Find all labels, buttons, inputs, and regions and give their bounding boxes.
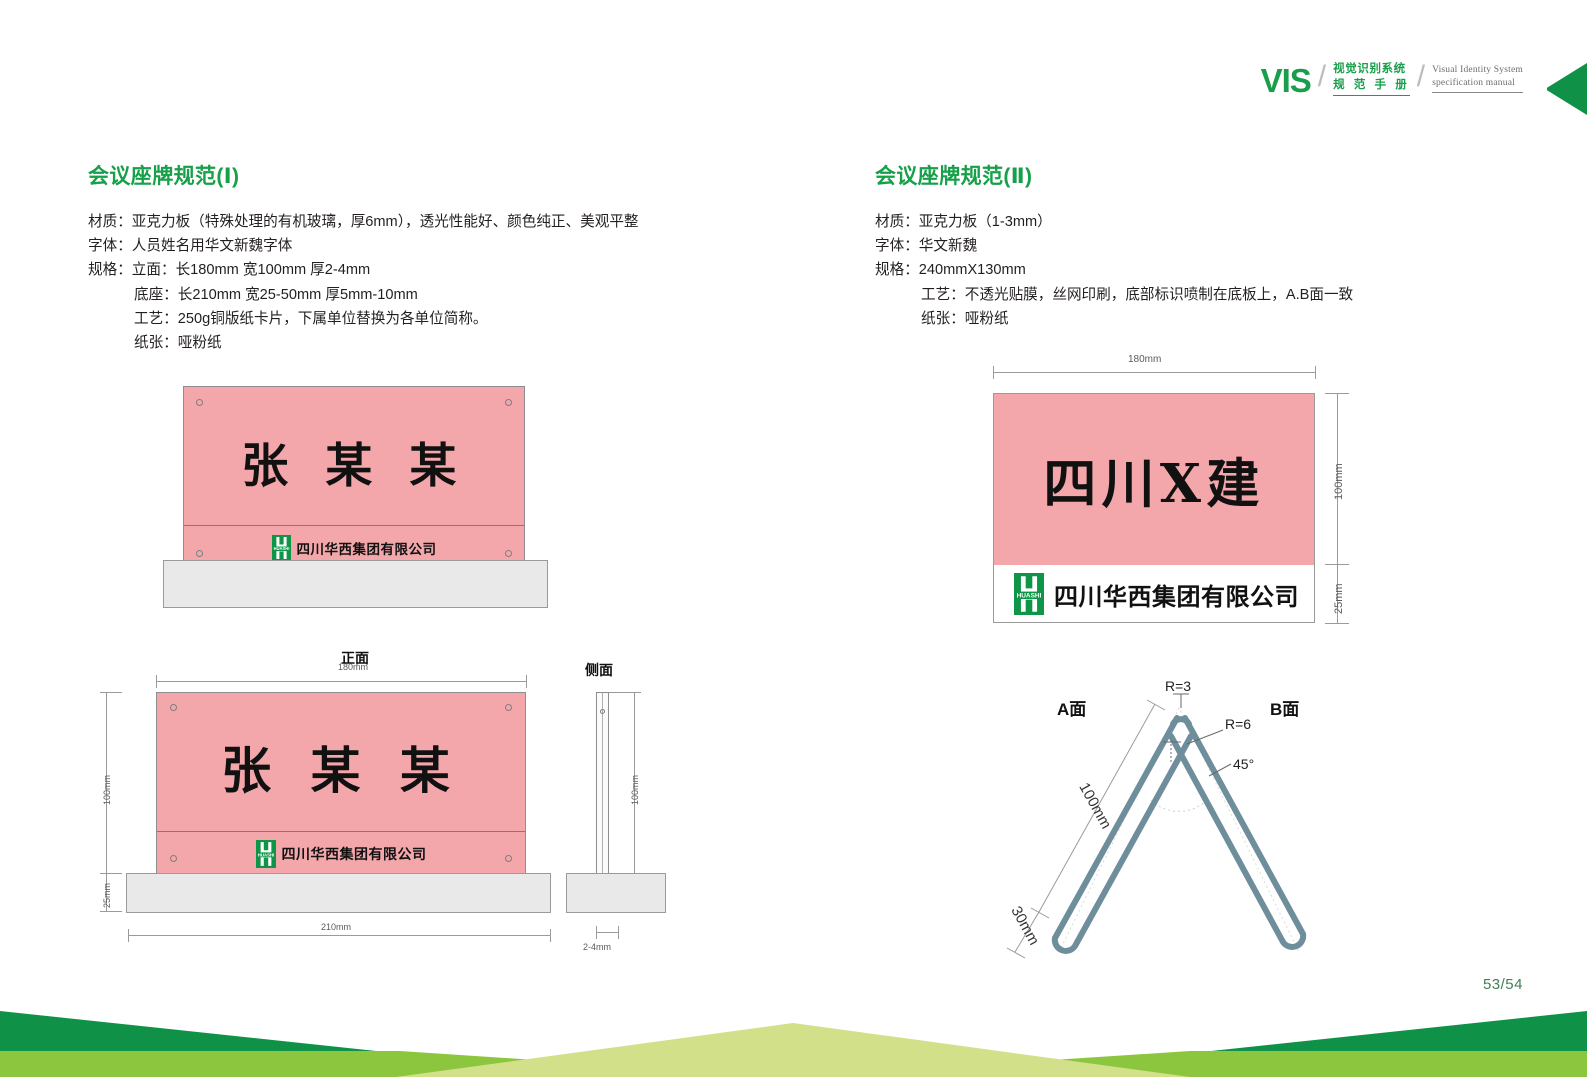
fv-plate-company-area: HUASHI 四川华西集团有限公司	[157, 833, 525, 875]
right-width-tick-left	[993, 366, 994, 379]
front-height-tick-mid	[100, 873, 122, 874]
right-height-tick-bottom	[1325, 623, 1349, 624]
side-thickness-tick-left	[596, 926, 597, 939]
header-chinese-subtitle: 视觉识别系统 规 范 手 册	[1333, 58, 1410, 96]
fold-diagram-svg: 100mm 30mm	[995, 680, 1355, 960]
side-height-dim-label: 100mm	[630, 775, 640, 805]
fv-corner-hole-tl	[170, 704, 177, 711]
right-plate-title: 四川X建	[1043, 442, 1264, 518]
left-spec-line-4: 工艺：250g铜版纸卡片，下属单位替换为各单位简称。	[88, 307, 639, 331]
side-thickness-dim-label: 2-4mm	[583, 942, 611, 952]
front-width-tick-left	[156, 675, 157, 688]
side-thickness-tick-right	[618, 926, 619, 939]
huashi-logo-icon: HUASHI	[272, 535, 291, 561]
base-width-dim-label: 210mm	[321, 922, 351, 932]
front-height-tick-top	[100, 692, 122, 693]
right-strip-dim-label: 25mm	[1333, 583, 1345, 614]
left-spec-line-1: 字体：人员姓名用华文新魏字体	[88, 234, 639, 258]
right-nameplate: 四川X建 HUASHI 四川华西集团有限公司	[993, 393, 1315, 623]
fv-plate-name-area: 张 某 某	[157, 717, 525, 817]
right-company-name: 四川华西集团有限公司	[1054, 577, 1299, 612]
right-width-dim-line	[993, 372, 1315, 373]
nameplate-front-illustration: 张 某 某 HUASHI 四川华西集团有限公司	[183, 386, 525, 568]
front-height-dim-label: 100mm	[102, 775, 112, 805]
svg-text:HUASHI: HUASHI	[273, 546, 289, 551]
side-height-tick-top	[609, 692, 641, 693]
right-spec-line-2: 规格：240mmX130mm	[875, 258, 1353, 282]
left-spec-line-0: 材质：亚克力板（特殊处理的有机玻璃，厚6mm），透光性能好、颜色纯正、美观平整	[88, 210, 639, 234]
header-cn-line-1: 视觉识别系统	[1333, 62, 1410, 78]
footer-wave-light	[396, 1023, 1190, 1077]
right-width-tick-right	[1315, 366, 1316, 379]
fv-huashi-logo-icon: HUASHI	[256, 840, 276, 868]
company-name: 四川华西集团有限公司	[297, 538, 437, 558]
right-spec-line-1: 字体：华文新魏	[875, 234, 1353, 258]
right-huashi-logo-icon: HUASHI	[1014, 573, 1044, 615]
fv-corner-hole-tr	[505, 704, 512, 711]
side-view-base	[566, 873, 666, 913]
fv-plate-divider-line	[157, 831, 525, 832]
vis-logo-header: VIS / 视觉识别系统 规 范 手 册 / Visual Identity S…	[1261, 58, 1523, 97]
svg-text:30mm: 30mm	[1007, 903, 1042, 948]
header-cn-line-2: 规 范 手 册	[1333, 78, 1410, 97]
right-height-dim-label: 100mm	[1333, 463, 1345, 500]
corner-hole-tr	[505, 399, 512, 406]
front-view-base	[126, 873, 551, 913]
footer-decoration	[0, 985, 1587, 1077]
header-slash-2: /	[1417, 58, 1425, 92]
front-view-plate: 张 某 某 HUASHI 四川华西集团有限公司	[156, 692, 526, 874]
left-section-title: 会议座牌规范(Ⅰ)	[88, 160, 239, 190]
left-spec-line-2: 规格：立面：长180mm 宽100mm 厚2-4mm	[88, 258, 639, 282]
side-view-hole	[600, 709, 605, 714]
right-width-dim-label: 180mm	[1128, 354, 1161, 365]
header-slash-1: /	[1318, 58, 1326, 92]
left-spec-text: 材质：亚克力板（特殊处理的有机玻璃，厚6mm），透光性能好、颜色纯正、美观平整 …	[88, 210, 639, 355]
header-en-line-2: specification manual	[1432, 77, 1523, 93]
svg-text:HUASHI: HUASHI	[257, 852, 274, 857]
base-width-tick-left	[128, 929, 129, 942]
right-spec-line-3: 工艺：不透光贴膜，丝网印刷，底部标识喷制在底板上，A.B面一致	[875, 283, 1353, 307]
right-spec-line-4: 纸张：哑粉纸	[875, 307, 1353, 331]
chevron-left-icon	[1525, 63, 1587, 120]
svg-text:HUASHI: HUASHI	[1017, 592, 1042, 599]
side-view-label: 侧面	[585, 660, 613, 680]
front-width-dim-line	[156, 681, 526, 682]
corner-hole-tl	[196, 399, 203, 406]
left-spec-line-3: 底座：长210mm 宽25-50mm 厚5mm-10mm	[88, 283, 639, 307]
right-section-title: 会议座牌规范(Ⅱ)	[875, 160, 1032, 190]
fv-company-name: 四川华西集团有限公司	[282, 844, 427, 864]
header-english-subtitle: Visual Identity System specification man…	[1432, 58, 1523, 93]
right-spec-line-0: 材质：亚克力板（1-3mm）	[875, 210, 1353, 234]
front-base-height-dim-label: 25mm	[102, 883, 112, 908]
vis-manual-page: VIS / 视觉识别系统 规 范 手 册 / Visual Identity S…	[0, 0, 1587, 1077]
plate-divider-line	[184, 525, 524, 526]
right-plate-name-area: 四川X建	[994, 394, 1314, 565]
side-view-sheet	[596, 692, 609, 874]
attendee-name: 张 某 某	[241, 427, 466, 496]
right-spec-text: 材质：亚克力板（1-3mm） 字体：华文新魏 规格：240mmX130mm 工艺…	[875, 210, 1353, 331]
side-thickness-dim-line	[596, 932, 618, 933]
left-spec-line-5: 纸张：哑粉纸	[88, 331, 639, 355]
right-height-tick-top	[1325, 393, 1349, 394]
nameplate-base-illustration	[163, 560, 548, 608]
front-width-dim-label: 180mm	[338, 662, 368, 672]
front-width-tick-right	[526, 675, 527, 688]
front-height-tick-bottom	[100, 911, 122, 912]
base-width-dim-line	[128, 935, 550, 936]
side-sheet-inner-line	[602, 693, 603, 875]
header-en-line-1: Visual Identity System	[1432, 64, 1523, 77]
plate-name-area: 张 某 某	[184, 413, 524, 509]
right-plate-company-strip: HUASHI 四川华西集团有限公司	[1014, 565, 1314, 623]
base-width-tick-right	[550, 929, 551, 942]
fv-attendee-name: 张 某 某	[221, 731, 461, 803]
vis-wordmark: VIS	[1261, 58, 1311, 97]
